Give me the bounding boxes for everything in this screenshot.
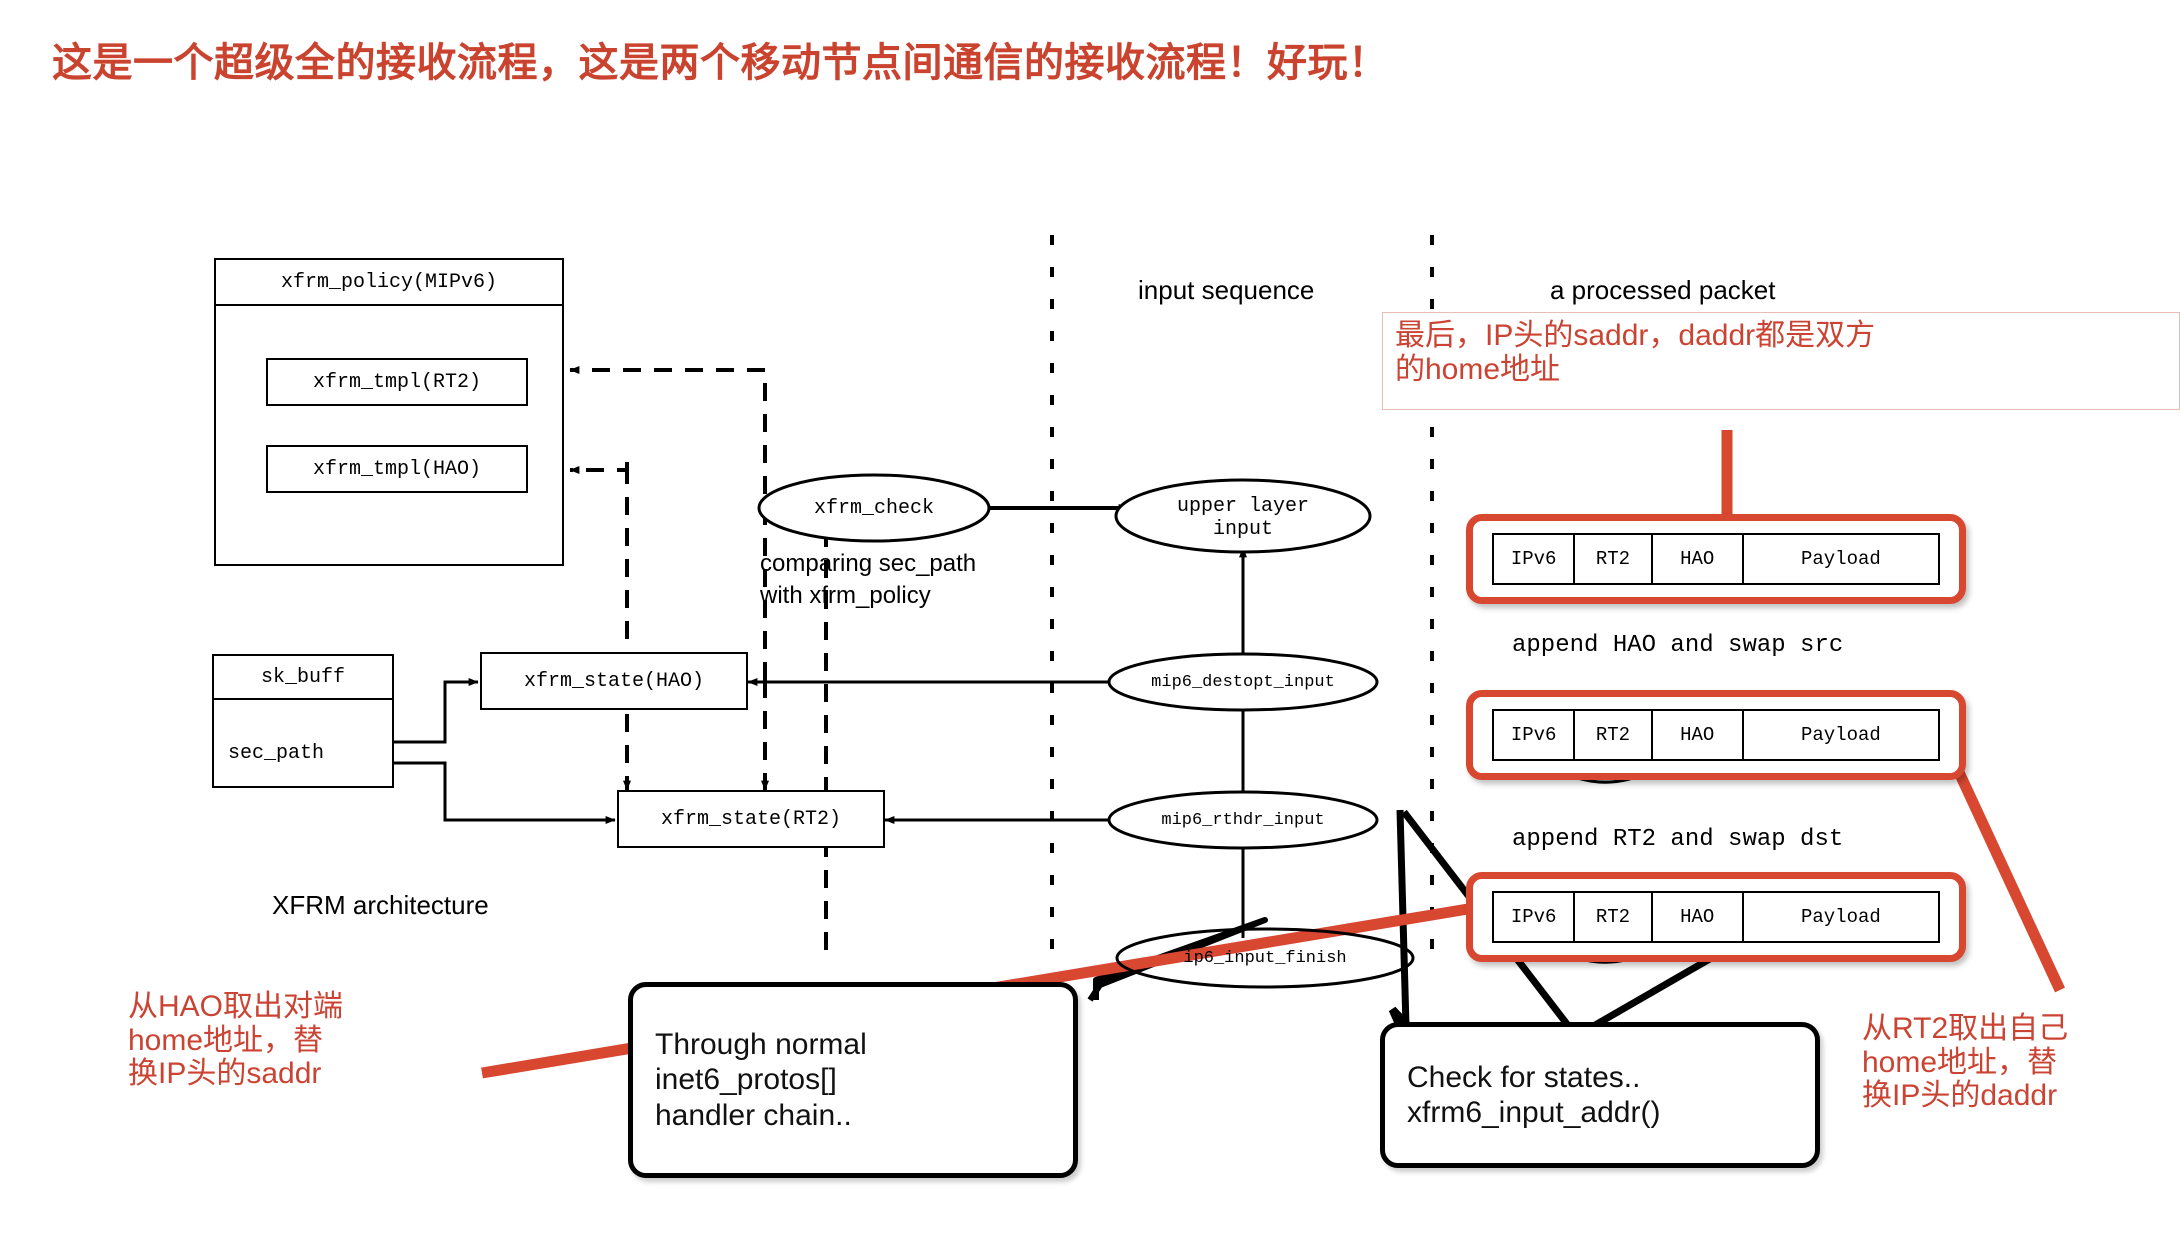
- note-bottom-right-line1: 从RT2取出自己: [1862, 1012, 2068, 1046]
- note-bottom-left-line3: 换IP头的saddr: [128, 1057, 343, 1091]
- processed-packet-label: a processed packet: [1550, 275, 1775, 306]
- packet-row-3: IPv6 RT2 HAO Payload: [1492, 891, 1940, 943]
- packet-caption-rt2: append RT2 and swap dst: [1512, 826, 1843, 853]
- note-bottom-right-line3: 换IP头的daddr: [1862, 1079, 2068, 1113]
- callout-left-line1: Through normal: [655, 1027, 867, 1062]
- note-bottom-right: 从RT2取出自己 home地址，替 换IP头的daddr: [1862, 1012, 2068, 1113]
- packet-caption-hao: append HAO and swap src: [1512, 632, 1843, 659]
- packet-2-field-hao: HAO: [1653, 711, 1744, 759]
- comparing-note-line2: with xfrm_policy: [760, 582, 976, 610]
- mip6-destopt-input-ellipse: [1109, 654, 1377, 710]
- packet-3-field-ipv6: IPv6: [1494, 893, 1575, 941]
- ip6-input-finish-ellipse: [1117, 929, 1413, 987]
- note-top-right-line2: 的home地址: [1395, 353, 2169, 387]
- diagram-canvas: 这是一个超级全的接收流程，这是两个移动节点间通信的接收流程！好玩！: [0, 0, 2180, 1254]
- xfrm-check-ellipse: [759, 475, 989, 541]
- packet-2-field-ipv6: IPv6: [1494, 711, 1575, 759]
- note-bottom-left-line2: home地址，替: [128, 1024, 343, 1058]
- callout-right-line1: Check for states..: [1407, 1060, 1640, 1095]
- note-bottom-left: 从HAO取出对端 home地址，替 换IP头的saddr: [128, 990, 343, 1091]
- upper-layer-input-ellipse: [1116, 480, 1370, 552]
- callout-right-line2: xfrm6_input_addr(): [1407, 1095, 1660, 1130]
- packet-2-field-payload: Payload: [1744, 711, 1938, 759]
- comparing-note-line1: comparing sec_path: [760, 550, 976, 578]
- packet-2-field-rt2: RT2: [1575, 711, 1652, 759]
- packet-3-field-payload: Payload: [1744, 893, 1938, 941]
- packet-row-2: IPv6 RT2 HAO Payload: [1492, 709, 1940, 761]
- callout-right: Check for states.. xfrm6_input_addr(): [1380, 1022, 1820, 1168]
- packet-1-field-ipv6: IPv6: [1494, 535, 1575, 583]
- comparing-note: comparing sec_path with xfrm_policy: [760, 550, 976, 610]
- callout-left-line3: handler chain..: [655, 1098, 852, 1133]
- callout-left: Through normal inet6_protos[] handler ch…: [628, 982, 1078, 1178]
- callout-left-line2: inet6_protos[]: [655, 1062, 837, 1097]
- packet-row-1: IPv6 RT2 HAO Payload: [1492, 533, 1940, 585]
- note-top-right: 最后，IP头的saddr，daddr都是双方 的home地址: [1382, 312, 2180, 410]
- mip6-rthdr-input-ellipse: [1109, 792, 1377, 848]
- input-sequence-label: input sequence: [1138, 275, 1314, 306]
- note-bottom-right-line2: home地址，替: [1862, 1046, 2068, 1080]
- packet-3-field-rt2: RT2: [1575, 893, 1652, 941]
- note-bottom-left-line1: 从HAO取出对端: [128, 990, 343, 1024]
- packet-1-field-rt2: RT2: [1575, 535, 1652, 583]
- note-top-right-line1: 最后，IP头的saddr，daddr都是双方: [1395, 319, 2169, 353]
- packet-1-field-payload: Payload: [1744, 535, 1938, 583]
- packet-1-field-hao: HAO: [1653, 535, 1744, 583]
- packet-3-field-hao: HAO: [1653, 893, 1744, 941]
